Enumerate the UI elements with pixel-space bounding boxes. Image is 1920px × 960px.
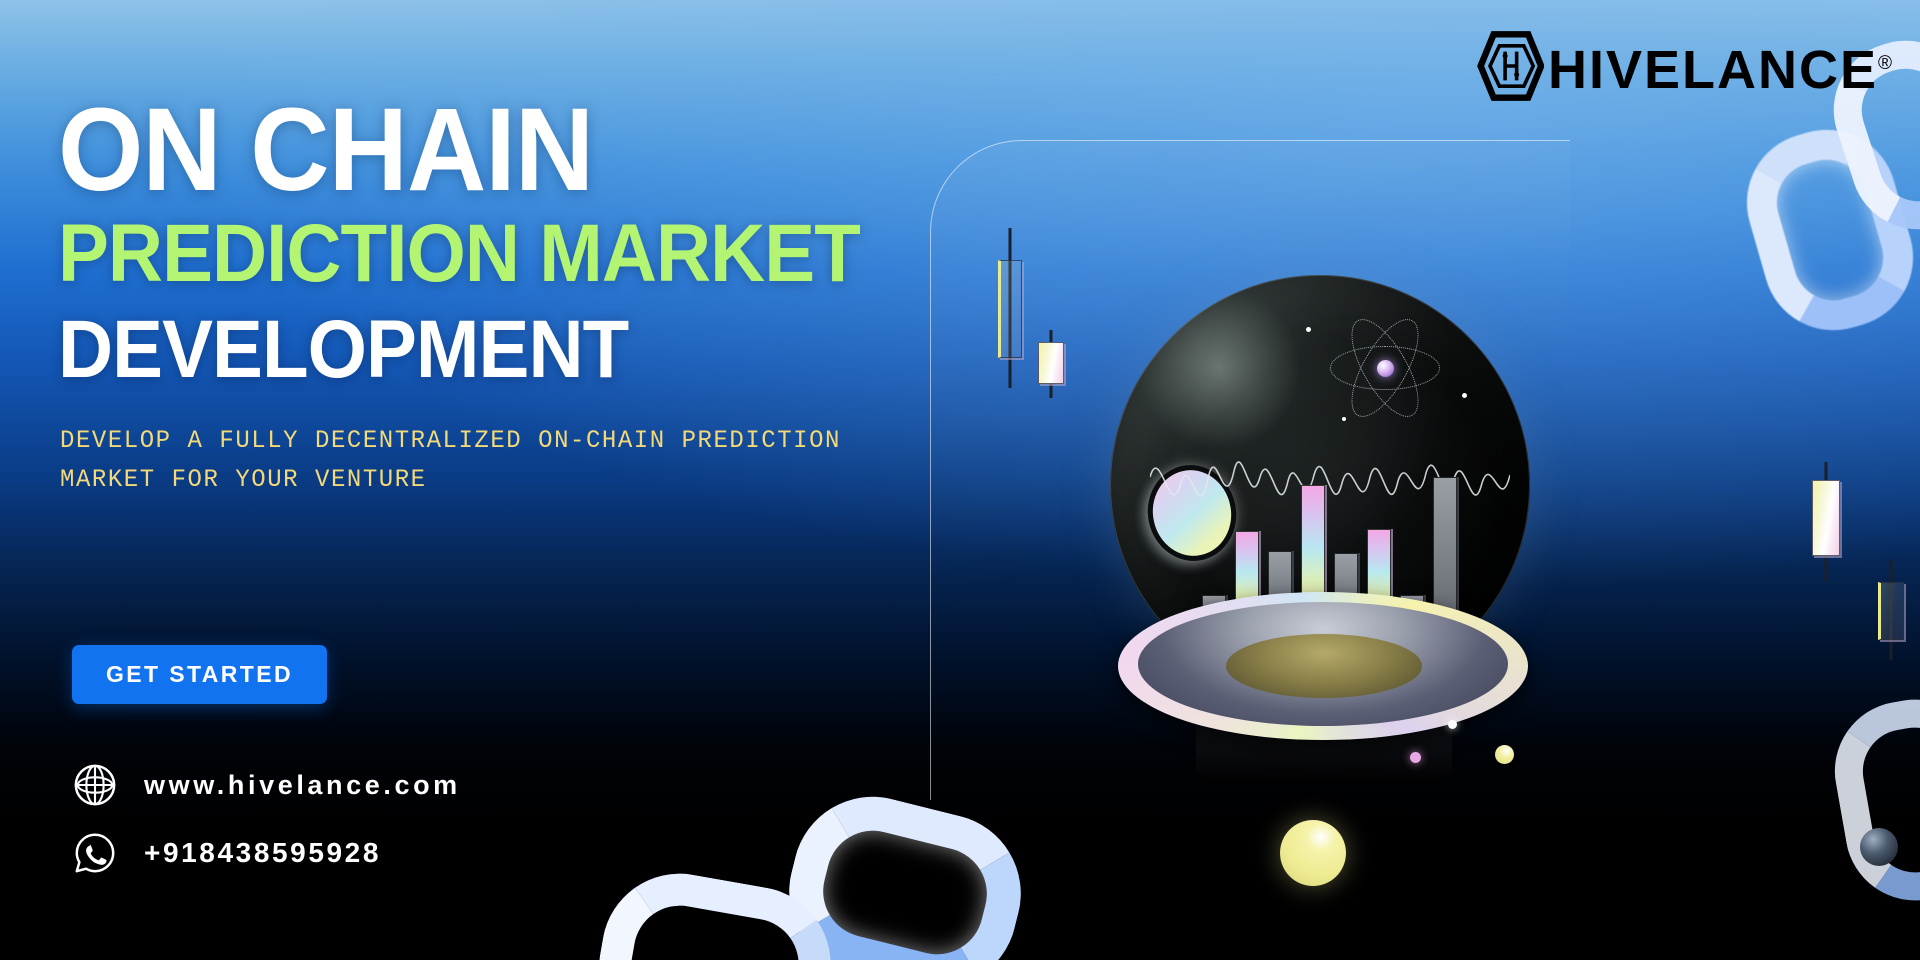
bar-chart-bar bbox=[1235, 531, 1259, 617]
globe-icon bbox=[72, 762, 118, 808]
candlestick-icon bbox=[1038, 330, 1064, 398]
get-started-button[interactable]: GET STARTED bbox=[72, 645, 327, 704]
chain-link-icon bbox=[1824, 688, 1920, 911]
crystal-ball-surface bbox=[1110, 275, 1530, 695]
white-dot bbox=[1448, 720, 1457, 729]
bar-chart-bar bbox=[1301, 485, 1325, 617]
bar-chart-bar bbox=[1202, 595, 1226, 617]
whatsapp-icon bbox=[72, 830, 118, 876]
hexagon-hive-icon bbox=[1472, 30, 1544, 102]
chain-link-icon bbox=[1730, 113, 1920, 347]
hero-content: ON CHAIN PREDICTION MARKET DEVELOPMENT D… bbox=[58, 0, 958, 960]
brand-name: HIVELANCE® bbox=[1548, 43, 1892, 97]
bar-chart-bar bbox=[1334, 553, 1358, 617]
small-yellow-dot bbox=[1495, 745, 1514, 764]
bar-chart-bar bbox=[1400, 595, 1424, 617]
crystal-ball bbox=[1110, 275, 1530, 695]
phone-text: +918438595928 bbox=[144, 837, 381, 869]
headline-line-3: DEVELOPMENT bbox=[58, 312, 628, 387]
pink-dot bbox=[1410, 752, 1421, 763]
headline-line-2: PREDICTION MARKET bbox=[58, 216, 860, 291]
iridescent-pedestal bbox=[1118, 592, 1528, 792]
registered-mark: ® bbox=[1878, 53, 1892, 74]
bar-chart-bar bbox=[1433, 477, 1457, 617]
bar-chart bbox=[1202, 467, 1457, 617]
website-text: www.hivelance.com bbox=[144, 770, 461, 801]
banner-root: HIVELANCE® ON CHAIN PREDICTION MARKET DE… bbox=[0, 0, 1920, 960]
whatsapp-contact-row[interactable]: +918438595928 bbox=[72, 830, 381, 876]
bar-chart-bar bbox=[1367, 529, 1391, 617]
brand-name-text: HIVELANCE bbox=[1548, 40, 1878, 100]
subtitle-line-2: MARKET FOR YOUR VENTURE bbox=[60, 461, 847, 500]
candlestick-icon bbox=[998, 228, 1022, 388]
yellow-sphere bbox=[1280, 820, 1346, 886]
iris-highlight bbox=[1139, 457, 1245, 569]
candlestick-icon bbox=[1812, 462, 1840, 582]
bar-chart-bar bbox=[1268, 551, 1292, 617]
subtitle-line-1: DEVELOP A FULLY DECENTRALIZED ON-CHAIN P… bbox=[60, 422, 847, 461]
line-chart-wave bbox=[1150, 425, 1510, 545]
subtitle: DEVELOP A FULLY DECENTRALIZED ON-CHAIN P… bbox=[60, 422, 847, 500]
headline-line-1: ON CHAIN bbox=[58, 96, 593, 205]
brand-logo[interactable]: HIVELANCE® bbox=[1472, 30, 1892, 102]
website-contact-row[interactable]: www.hivelance.com bbox=[72, 762, 461, 808]
dark-sphere bbox=[1860, 828, 1898, 866]
glass-panel bbox=[930, 140, 1570, 800]
candlestick-icon bbox=[1878, 560, 1904, 660]
atom-icon bbox=[1310, 303, 1460, 433]
